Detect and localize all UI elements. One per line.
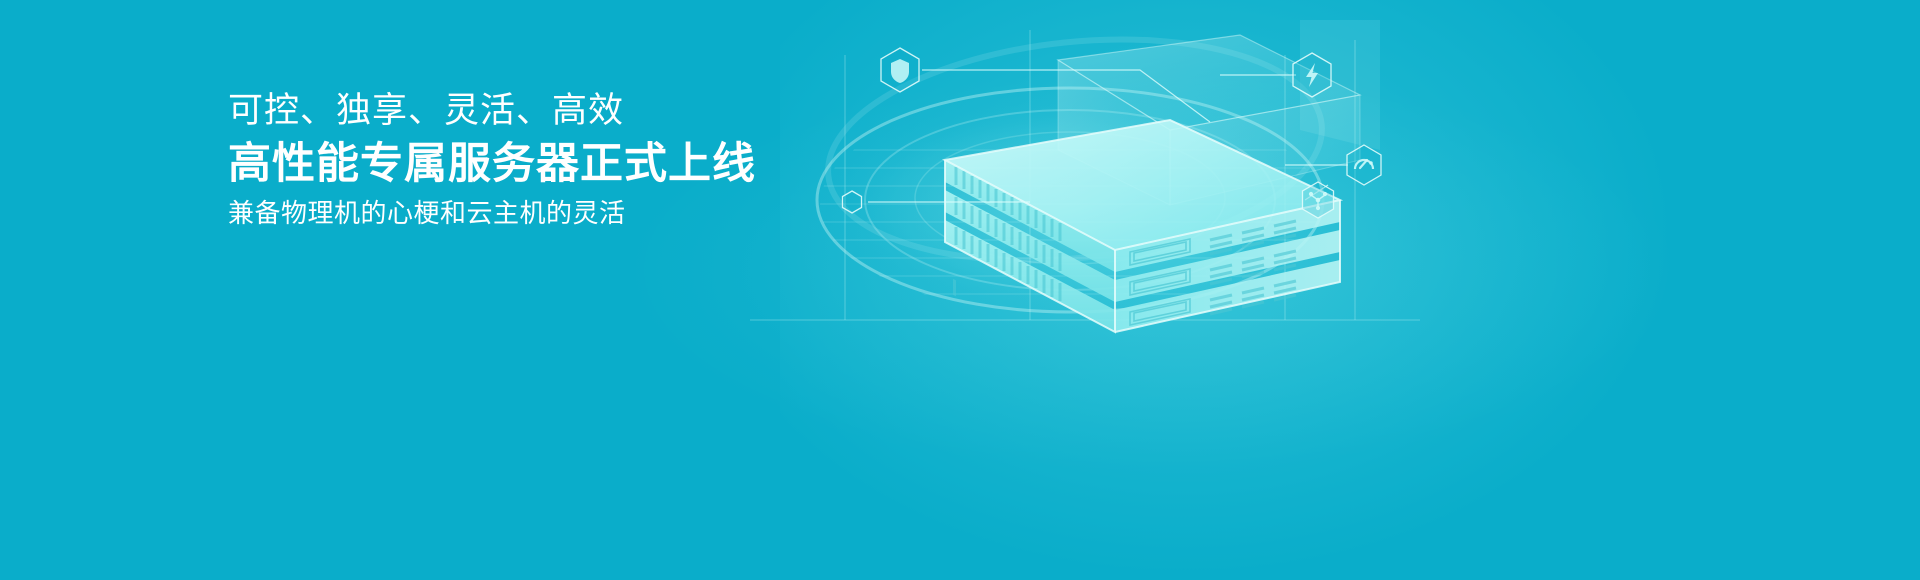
shield-icon <box>881 48 919 92</box>
headline-tagline: 兼备物理机的心梗和云主机的灵活 <box>228 193 848 235</box>
headline-eyebrow: 可控、独享、灵活、高效 <box>228 88 848 135</box>
headline-block: 可控、独享、灵活、高效 高性能专属服务器正式上线 兼备物理机的心梗和云主机的灵活 <box>228 88 848 235</box>
promo-banner: 可控、独享、灵活、高效 高性能专属服务器正式上线 兼备物理机的心梗和云主机的灵活 <box>0 0 1920 580</box>
page-title: 高性能专属服务器正式上线 <box>228 135 848 193</box>
vent-slots <box>953 279 956 297</box>
